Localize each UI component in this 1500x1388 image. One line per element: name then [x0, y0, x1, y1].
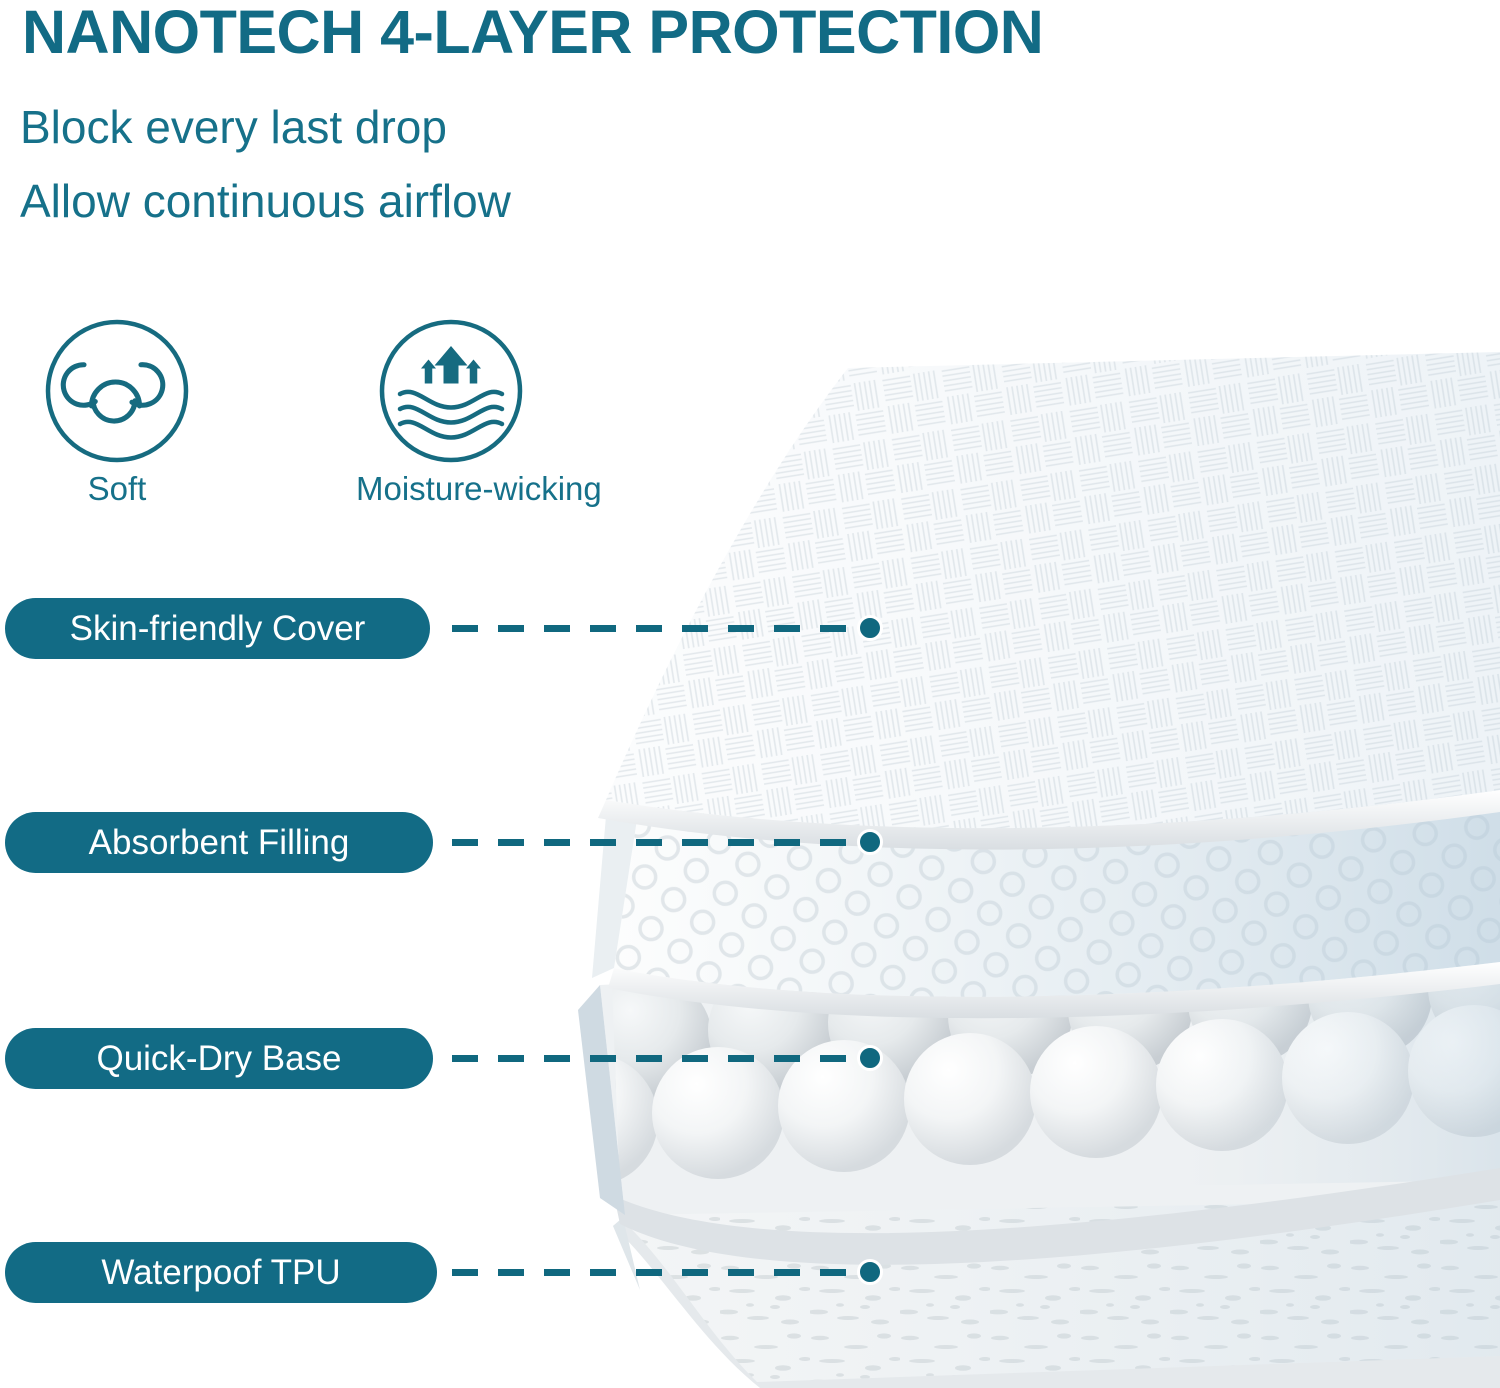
connector-line-quick-dry-base [452, 1055, 872, 1062]
layer-waterproof-tpu [613, 1124, 1500, 1388]
moisture-wicking-icon [376, 316, 526, 466]
page-title: NANOTECH 4-LAYER PROTECTION [22, 2, 1043, 63]
feature-moisture-wicking: Moisture-wicking [356, 316, 546, 505]
connector-endpoint-tpu [857, 1259, 883, 1285]
layer-label-quick-dry-base: Quick-Dry Base [5, 1028, 433, 1089]
connector-endpoint-filling [857, 829, 883, 855]
layer-label-skin-friendly-cover: Skin-friendly Cover [5, 598, 430, 659]
connector-endpoint-cover [857, 615, 883, 641]
product-infographic: NANOTECH 4-LAYER PROTECTION Block every … [0, 0, 1500, 1388]
connector-line-filling [452, 839, 872, 846]
layer-absorbent-filling [592, 742, 1500, 1018]
connector-line-tpu [452, 1269, 872, 1276]
layer-label-waterproof-tpu: Waterpoof TPU [5, 1242, 437, 1303]
layer-label-absorbent-filling: Absorbent Filling [5, 812, 433, 873]
feature-label: Moisture-wicking [356, 472, 546, 505]
subtitle-line-2: Allow continuous airflow [20, 178, 511, 224]
connector-endpoint-quick-dry [857, 1045, 883, 1071]
feature-soft: Soft [22, 316, 212, 505]
layer-quick-dry-base [526, 926, 1500, 1265]
subtitle-line-1: Block every last drop [20, 104, 447, 150]
cloud-soft-icon [42, 316, 192, 466]
connector-line-cover [452, 625, 872, 632]
layer-skin-friendly-cover [598, 352, 1500, 850]
feature-label: Soft [22, 472, 212, 505]
